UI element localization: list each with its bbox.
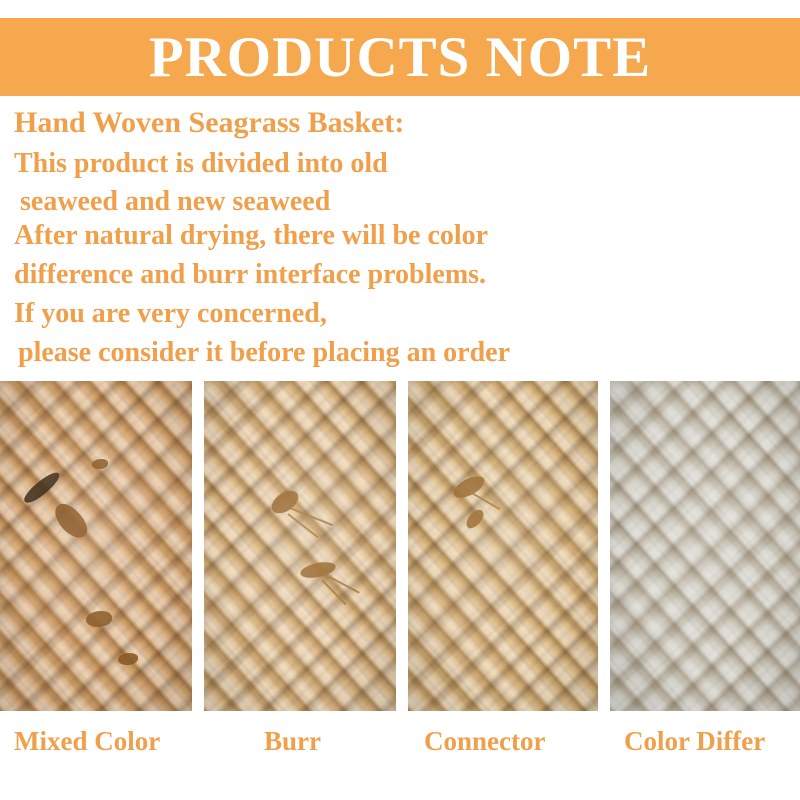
page-title: PRODUCTS NOTE	[149, 29, 651, 86]
note-line-3: seaweed and new seaweed	[14, 188, 794, 216]
sample-image-mixed-color	[0, 381, 192, 711]
note-line-6: If you are very concerned,	[14, 300, 794, 328]
caption-color-differ: Color Differ	[624, 726, 765, 757]
sample-image-connector	[408, 381, 598, 711]
note-line-7: please consider it before placing an ord…	[14, 339, 794, 367]
sample-image-strip	[0, 381, 800, 711]
header-banner: PRODUCTS NOTE	[0, 18, 800, 96]
caption-row: Mixed Color Burr Connector Color Differ	[0, 718, 800, 772]
note-line-1: Hand Woven Seagrass Basket:	[14, 108, 794, 138]
note-line-4: After natural drying, there will be colo…	[14, 222, 794, 250]
sample-image-color-differ	[610, 381, 800, 711]
products-note-page: PRODUCTS NOTE Hand Woven Seagrass Basket…	[0, 0, 800, 800]
caption-mixed-color: Mixed Color	[14, 726, 160, 757]
sample-image-burr	[204, 381, 396, 711]
notes-block: Hand Woven Seagrass Basket: This product…	[14, 104, 794, 367]
caption-burr: Burr	[264, 726, 321, 757]
note-line-5: difference and burr interface problems.	[14, 261, 794, 289]
note-line-2: This product is divided into old	[14, 150, 794, 178]
caption-connector: Connector	[424, 726, 545, 757]
